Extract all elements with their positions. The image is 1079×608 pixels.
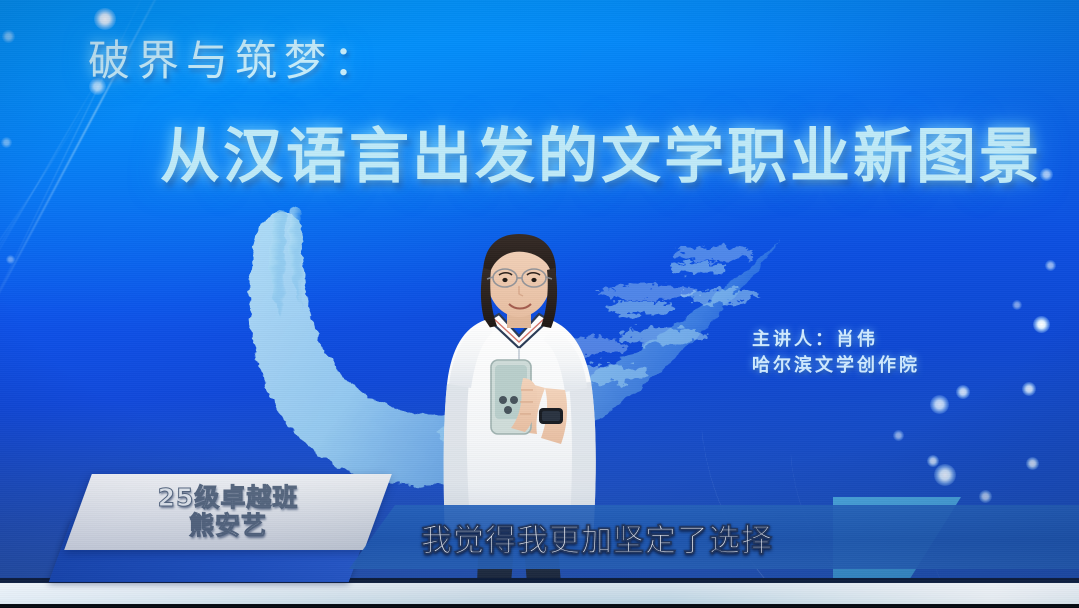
slide-kicker: 破界与筑梦： [88, 27, 382, 88]
caption-text: 我觉得我更加坚定了选择 [421, 515, 773, 560]
glow-node [956, 385, 970, 399]
glow-node [934, 464, 956, 486]
glow-node [1033, 316, 1050, 333]
speaker-credit: 主讲人：肖伟 哈尔滨文学创作院 [752, 327, 920, 379]
glow-node [1012, 300, 1022, 310]
glow-node [6, 255, 15, 264]
glow-node [1, 137, 12, 148]
slide-headline: 从汉语言出发的文学职业新图景 [160, 108, 1042, 195]
video-frame: 破界与筑梦： 从汉语言出发的文学职业新图景 主讲人：肖伟 哈尔滨文学创作院 [0, 0, 1079, 608]
speaker-affiliation: 哈尔滨文学创作院 [752, 353, 920, 379]
glow-node [930, 395, 949, 414]
caption-container: 我觉得我更加坚定了选择 [349, 505, 1079, 569]
glow-node [1045, 260, 1056, 271]
lower-third-panel [64, 474, 392, 550]
glow-node [927, 455, 939, 467]
glow-node [2, 30, 15, 43]
glow-node [1022, 382, 1036, 396]
glow-node [979, 490, 992, 503]
glow-node [1026, 457, 1039, 470]
glow-node [893, 430, 904, 441]
speaker-name: 主讲人：肖伟 [752, 327, 920, 353]
frame-bottom-bar [0, 604, 1079, 608]
